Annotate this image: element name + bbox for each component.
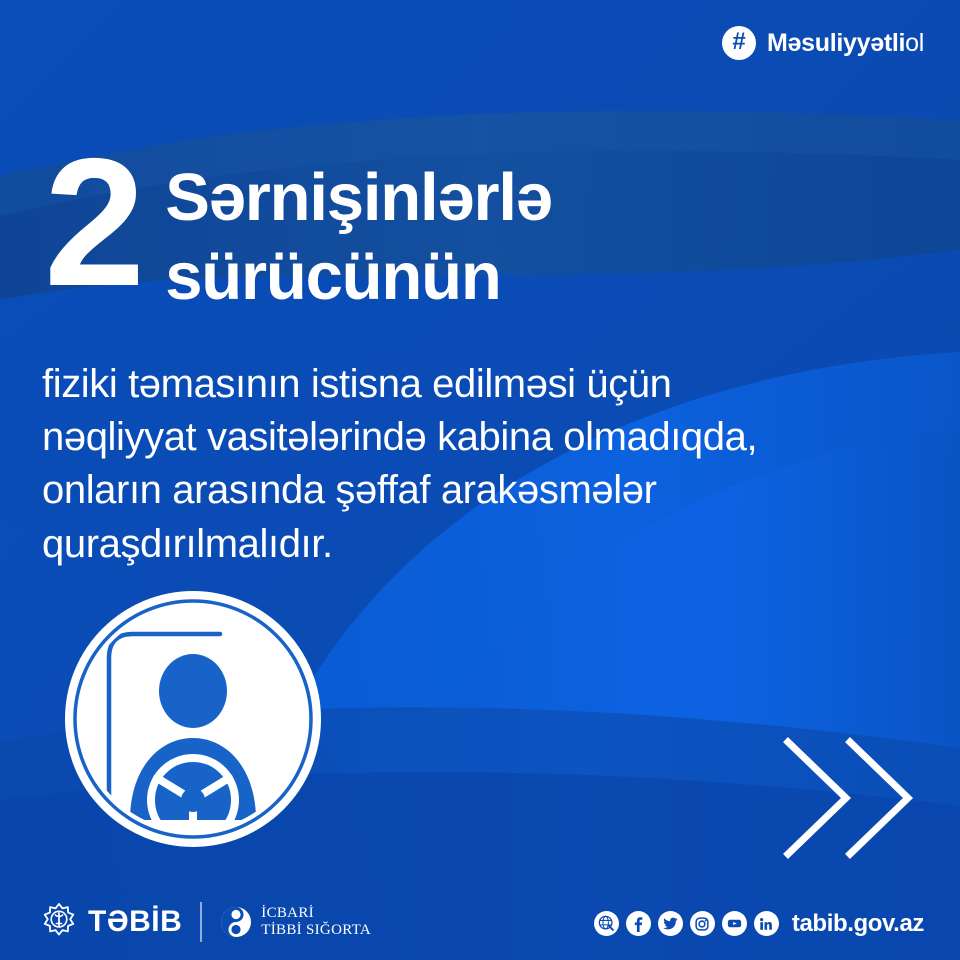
driver-behind-partition-icon — [62, 588, 324, 850]
headline-text: Sərnişinlərlə sürücünün — [165, 150, 552, 316]
hashtag-light: ol — [905, 29, 924, 57]
body-line-4: quraşdırılmalıdır. — [42, 518, 872, 571]
instagram-icon[interactable] — [690, 911, 715, 936]
website-url[interactable]: tabib.gov.az — [792, 912, 924, 936]
facebook-icon[interactable] — [626, 911, 651, 936]
headline-block: 2 Sərnişinlərlə sürücünün — [44, 150, 552, 316]
double-chevron-right-icon[interactable] — [774, 728, 924, 868]
tebib-star-emblem-icon — [40, 903, 78, 941]
insurance-logo[interactable]: İCBARİ TİBBİ SIĞORTA — [220, 905, 371, 939]
body-line-3: onların arasında şəffaf arakəsmələr — [42, 464, 872, 517]
insurance-line-1: İCBARİ — [261, 905, 371, 922]
hash-symbol: # — [732, 30, 745, 54]
body-line-1: fiziki təmasının istisna edilməsi üçün — [42, 358, 872, 411]
website-icon[interactable] — [594, 911, 619, 936]
hash-icon: # — [722, 26, 756, 60]
campaign-hashtag: # Məsuliyyətliol — [722, 26, 924, 60]
footer-brand-lockup: TƏBİB İCBARİ TİBBİ SIĞORTA — [40, 902, 371, 942]
youtube-icon[interactable] — [722, 911, 747, 936]
infographic-poster: # Məsuliyyətliol 2 Sərnişinlərlə sürücün… — [0, 0, 960, 960]
compulsory-health-insurance-icon — [220, 906, 252, 938]
linkedin-icon[interactable] — [754, 911, 779, 936]
hashtag-strong: Məsuliyyətli — [767, 29, 905, 57]
headline-line-2: sürücünün — [165, 237, 552, 316]
tebib-wordmark: TƏBİB — [88, 907, 182, 937]
body-paragraph: fiziki təmasının istisna edilməsi üçün n… — [42, 358, 872, 571]
footer-divider — [200, 902, 202, 942]
headline-line-1: Sərnişinlərlə — [165, 158, 552, 237]
hashtag-text: Məsuliyyətliol — [767, 29, 924, 58]
insurance-line-2: TİBBİ SIĞORTA — [261, 922, 371, 939]
footer-social-bar: tabib.gov.az — [594, 911, 924, 936]
body-line-2: nəqliyyat vasitələrində kabina olmadıqda… — [42, 411, 872, 464]
twitter-icon[interactable] — [658, 911, 683, 936]
step-number: 2 — [44, 144, 139, 301]
insurance-wordmark: İCBARİ TİBBİ SIĞORTA — [261, 905, 371, 939]
tebib-logo[interactable]: TƏBİB — [40, 903, 182, 941]
